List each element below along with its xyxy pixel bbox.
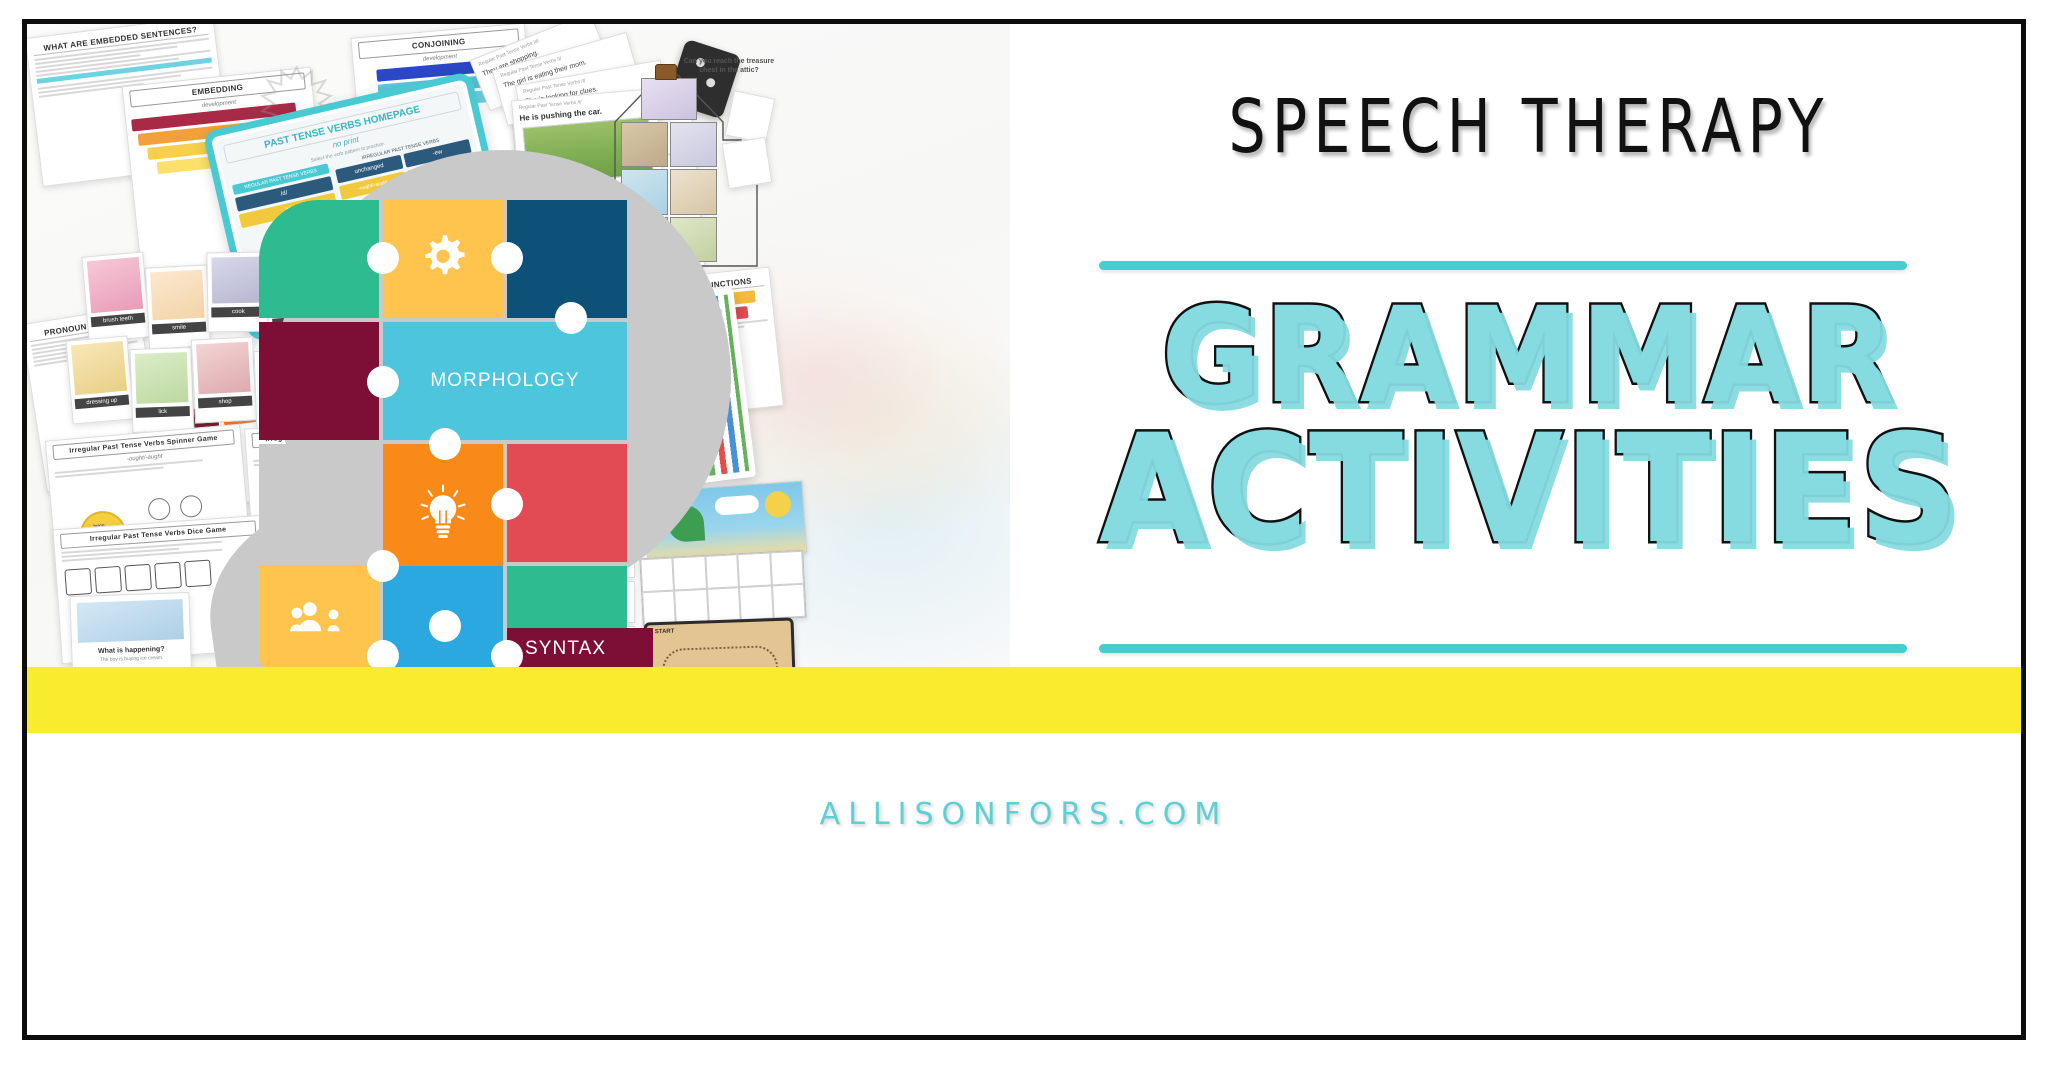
divider-top (1099, 261, 1907, 270)
puzzle-piece-red-right (507, 444, 627, 562)
puzzle-piece-maroon-left (259, 322, 379, 440)
yellow-accent-band (27, 667, 2021, 733)
verb-card: shop (191, 336, 257, 423)
title-line-2: ACTIVITIES (1067, 417, 1991, 564)
puzzle-knob (367, 366, 399, 398)
puzzle-knob (555, 302, 587, 334)
product-collage: WHAT ARE EMBEDDED SENTENCES? EMBEDDING d… (27, 24, 1010, 667)
verb-card-image (135, 352, 189, 404)
worksheet-what-is-happening: What is happening? The boy is buying ice… (69, 592, 192, 667)
puzzle-piece-teal-morphology: MORPHOLOGY (383, 322, 627, 440)
verb-card-image (196, 342, 251, 395)
verb-card-label: shop (198, 396, 252, 409)
puzzle-knob (491, 488, 523, 520)
puzzle-graphic: MORPHOLOGY (259, 200, 639, 667)
puzzle-knob (491, 640, 523, 667)
title-line-1: GRAMMAR (1067, 292, 1991, 421)
puzzle-piece-grey-left (259, 444, 379, 562)
lightbulb-icon (417, 484, 469, 551)
website-domain: ALLISONFORS.COM (820, 797, 1229, 832)
verb-card-label: cook (211, 307, 265, 318)
verb-card-image (71, 341, 127, 395)
poster-root: WHAT ARE EMBEDDED SENTENCES? EMBEDDING d… (0, 0, 2048, 1067)
verb-card-image (87, 257, 143, 313)
house-prompt: Can you reach the treasure chest in the … (679, 58, 779, 76)
flower-outlines (147, 494, 203, 521)
cloud-icon (714, 495, 759, 516)
puzzle-knob (429, 428, 461, 460)
verb-card-label: smile (152, 322, 206, 335)
puzzle-knob (429, 610, 461, 642)
kicker-text: SPEECH THERAPY (1087, 84, 1971, 170)
picture-card (722, 137, 773, 189)
verb-card: lick (130, 347, 195, 433)
what-is-happening-answer: The boy is buying ice cream. (73, 654, 191, 664)
puzzle-piece-gold-people (259, 566, 379, 667)
verb-card-image (211, 257, 264, 304)
treasure-chest-icon (655, 64, 677, 80)
puzzle-piece-maroon-syntax: SYNTAX (507, 628, 653, 667)
divider-bottom (1099, 644, 1907, 653)
verb-card: smile (145, 264, 211, 349)
verb-card: dressing up (65, 335, 134, 424)
poster-frame: WHAT ARE EMBEDDED SENTENCES? EMBEDDING d… (22, 19, 2026, 1040)
puzzle-piece-green-topleft (259, 200, 379, 318)
people-group-icon (290, 600, 348, 637)
puzzle-knob (367, 640, 399, 667)
puzzle-piece-yellow-gear (383, 200, 503, 318)
verb-card-label: lick (136, 406, 190, 418)
verb-card: brush teeth (81, 251, 150, 342)
attic-room (641, 78, 697, 120)
gear-icon (418, 232, 468, 287)
syntax-label: SYNTAX (525, 638, 606, 660)
verb-card-image (150, 270, 204, 321)
sun-icon (764, 490, 792, 518)
verb-card-label: brush teeth (91, 313, 146, 328)
puzzle-knob (367, 550, 399, 582)
puzzle-knob (367, 242, 399, 274)
puzzle-piece-navy-topright (507, 200, 627, 318)
board-start-label: START (655, 629, 675, 636)
pirate-bingo-board (639, 550, 806, 626)
footer: ALLISONFORS.COM (27, 733, 2021, 1035)
what-happening-image (77, 599, 184, 643)
morphology-label: MORPHOLOGY (430, 370, 579, 392)
puzzle-knob (491, 242, 523, 274)
treasure-map-board: START (644, 617, 797, 667)
map-path-icon (661, 645, 778, 667)
verb-card-label: dressing up (75, 395, 130, 410)
